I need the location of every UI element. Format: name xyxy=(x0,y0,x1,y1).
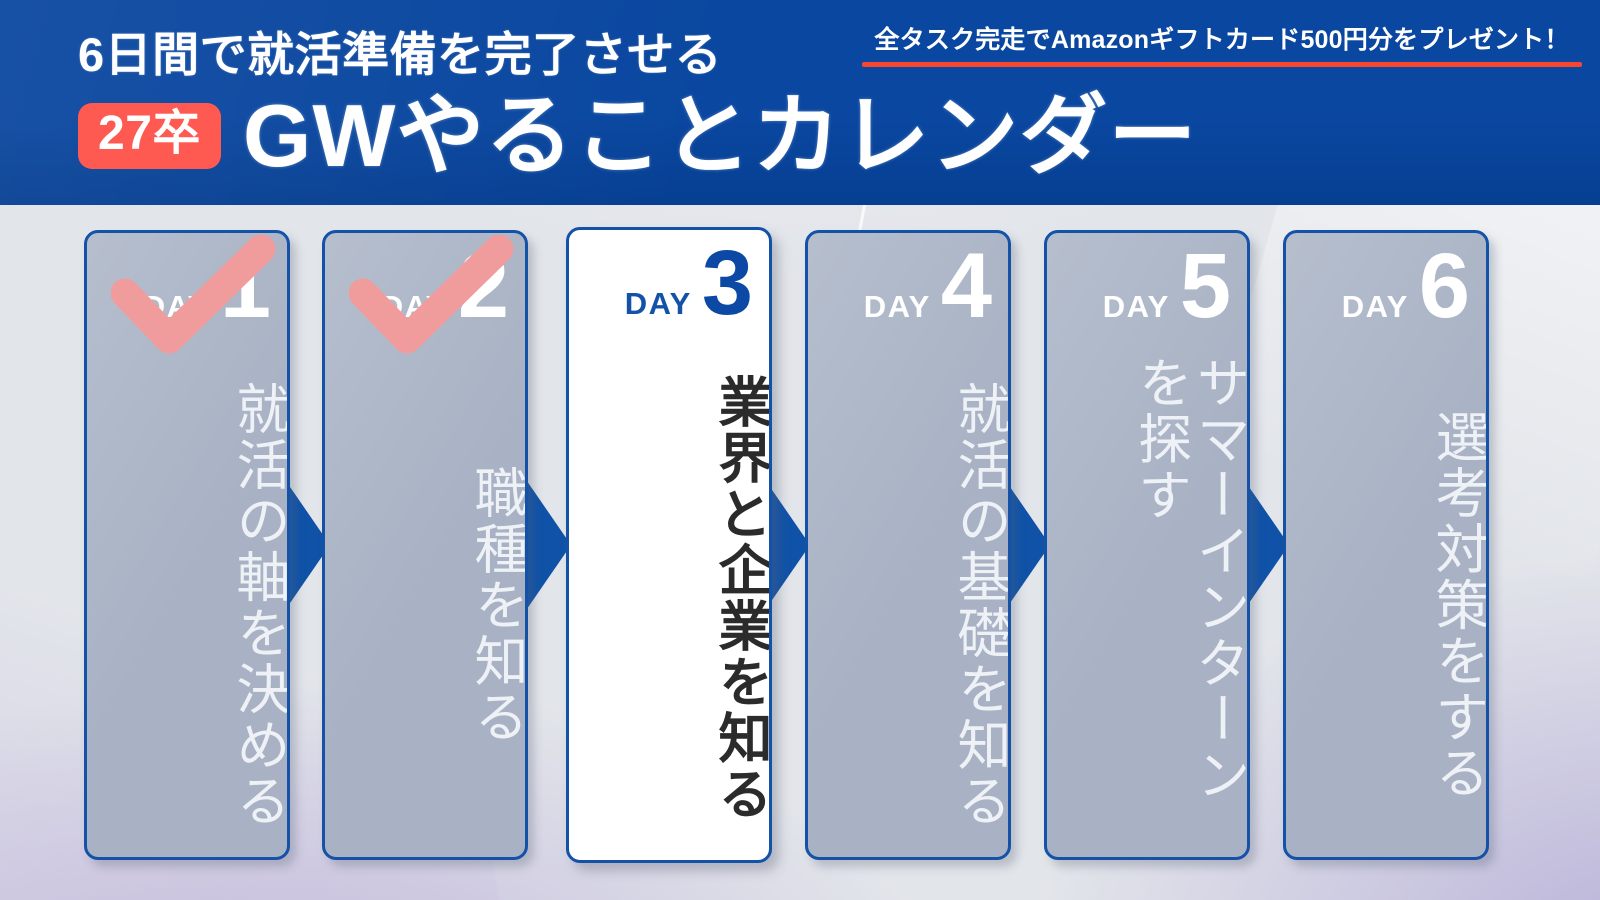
day-number: 6 xyxy=(1419,243,1470,330)
day-card-3[interactable]: DAY3業界と企業を知る xyxy=(566,227,772,863)
day-header: DAY6 xyxy=(1286,243,1470,330)
day-label: DAY xyxy=(381,289,448,325)
day-card-4[interactable]: DAY4就活の基礎を知る xyxy=(805,230,1011,860)
day-number: 1 xyxy=(220,243,271,330)
day-number: 5 xyxy=(1180,243,1231,330)
day-task-text: 選考対策をする xyxy=(1286,355,1486,855)
day-task-text: サマーインターンを探す xyxy=(1047,355,1247,855)
day-card-2[interactable]: DAY2職種を知る xyxy=(322,230,528,860)
day-task-text: 就活の基礎を知る xyxy=(808,355,1008,855)
day-header: DAY4 xyxy=(808,243,992,330)
day-label: DAY xyxy=(143,289,210,325)
day-number: 4 xyxy=(941,243,992,330)
day-header: DAY3 xyxy=(569,240,753,327)
day-card-5[interactable]: DAY5サマーインターンを探す xyxy=(1044,230,1250,860)
day-task-text: 就活の軸を決める xyxy=(87,355,287,855)
day-card-6[interactable]: DAY6選考対策をする xyxy=(1283,230,1489,860)
day-label: DAY xyxy=(1342,289,1409,325)
day-header: DAY5 xyxy=(1047,243,1231,330)
day-number: 2 xyxy=(458,243,509,330)
day-label: DAY xyxy=(1103,289,1170,325)
day-number: 3 xyxy=(702,240,753,327)
day-card-track: DAY1就活の軸を決めるDAY2職種を知るDAY3業界と企業を知るDAY4就活の… xyxy=(0,0,1600,900)
day-header: DAY2 xyxy=(325,243,509,330)
day-label: DAY xyxy=(864,289,931,325)
day-label: DAY xyxy=(625,286,692,322)
day-task-text: 業界と企業を知る xyxy=(569,348,769,848)
day-header: DAY1 xyxy=(87,243,271,330)
day-task-text: 職種を知る xyxy=(325,355,525,855)
day-card-1[interactable]: DAY1就活の軸を決める xyxy=(84,230,290,860)
